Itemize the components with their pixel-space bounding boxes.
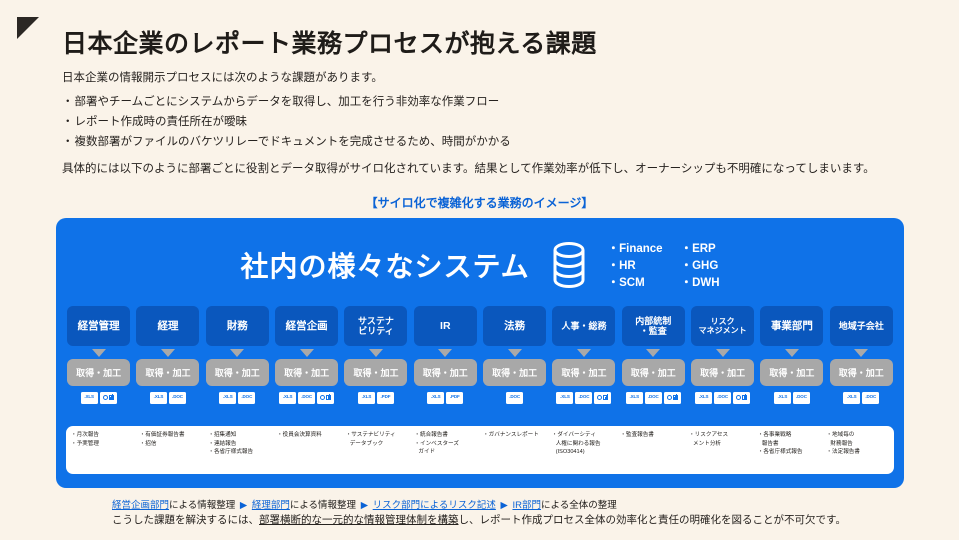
deliverable-list: 招集通知連結報告各省庁様式報告	[208, 431, 271, 457]
closing-underline: 部署横断的な一元的な情報管理体制を構築	[259, 514, 459, 526]
flow-step-text: による情報整理	[169, 500, 235, 511]
down-arrow-icon	[438, 349, 452, 357]
file-ext-label: .PDF	[381, 395, 391, 400]
file-icon-group: .XLS.DOC	[774, 391, 810, 404]
process-flow-line: 経営企画部門による情報整理 ▶ 経理部門による情報整理 ▶ リスク部門によるリス…	[112, 497, 617, 511]
department-column: 内部統制 ・監査取得・加工.XLS.DOC	[619, 306, 688, 404]
dept-label: 地域子会社	[839, 321, 884, 331]
file-ext-label: .DOC	[865, 395, 876, 400]
file-xls-icon: .XLS	[279, 392, 296, 404]
panel-header: 社内の様々なシステム Finance ERP HR GHG SCM DWH	[56, 232, 904, 298]
down-arrow-icon	[92, 349, 106, 357]
down-arrow-icon	[854, 349, 868, 357]
file-ext-label: .XLS	[431, 395, 441, 400]
bar-chart-icon	[742, 395, 747, 400]
file-ext-label: .DOC	[648, 395, 659, 400]
department-column: 事業部門取得・加工.XLS.DOC	[757, 306, 826, 404]
list-item: リスクアセス	[689, 431, 752, 440]
file-doc-icon: .DOC	[793, 392, 810, 404]
department-column: 経営管理取得・加工.XLS	[64, 306, 133, 404]
list-item: 報告書	[758, 440, 821, 449]
file-icon-group: .XLS.DOC	[219, 391, 255, 404]
pie-chart-icon	[103, 395, 108, 400]
dept-label: 財務	[227, 320, 248, 332]
dept-box-3[interactable]: 経営企画	[275, 306, 338, 346]
file-ext-label: .DOC	[301, 395, 312, 400]
process-box-8[interactable]: 取得・加工	[622, 359, 685, 386]
file-ext-label: .DOC	[717, 395, 728, 400]
closing-suffix: し、レポート作成プロセス全体の効率化と責任の明確化を図ることが不可欠です。	[459, 514, 846, 526]
panel-header-title: 社内の様々なシステム	[240, 245, 529, 285]
database-icon	[552, 242, 586, 288]
pie-chart-icon	[667, 395, 672, 400]
deliverable-list: 地域毎の財務報告法定報告書	[826, 431, 889, 457]
file-doc-icon: .DOC	[506, 392, 523, 404]
department-column: リスク マネジメント取得・加工.XLS.DOC	[688, 306, 757, 404]
process-label: 取得・加工	[492, 366, 537, 379]
process-label: 取得・加工	[353, 366, 398, 379]
pie-chart-icon	[320, 395, 325, 400]
file-xls-icon: .XLS	[626, 392, 643, 404]
list-item: 法定報告書	[826, 448, 889, 457]
list-item: サステナビリティ	[346, 431, 409, 440]
list-item: 各省庁様式報告	[758, 448, 821, 457]
system-tag: ERP	[681, 240, 720, 256]
file-ext-label: .XLS	[847, 395, 857, 400]
down-arrow-icon	[161, 349, 175, 357]
file-icon-group: .XLS	[81, 391, 117, 404]
deliverable-cell: リスクアセスメント分析	[686, 431, 755, 469]
slide-root: 日本企業のレポート業務プロセスが抱える課題 日本企業の情報開示プロセスには次のよ…	[0, 0, 959, 540]
page-title: 日本企業のレポート業務プロセスが抱える課題	[62, 24, 597, 60]
dept-label: 事業部門	[771, 320, 813, 332]
list-item: 複数部署がファイルのバケツリレーでドキュメントを完成させるため、時間がかかる	[62, 132, 511, 152]
deliverable-list: リスクアセスメント分析	[689, 431, 752, 448]
flow-step-text: による全体の整理	[541, 500, 617, 511]
department-column: サステナ ビリティ取得・加工.XLS.PDF	[341, 306, 410, 404]
list-item: 予実管理	[71, 440, 134, 449]
file-ext-label: .XLS	[629, 395, 639, 400]
process-box-1[interactable]: 取得・加工	[136, 359, 199, 386]
panel-caption: 【サイロ化で複雑化する業務のイメージ】	[0, 194, 959, 211]
list-item: ダイバーシティ	[552, 431, 615, 440]
file-ext-label: .DOC	[241, 395, 252, 400]
department-columns: 経営管理取得・加工.XLS経理取得・加工.XLS.DOC財務取得・加工.XLS.…	[64, 306, 896, 404]
file-doc-icon: .DOC	[169, 392, 186, 404]
pie-chart-icon	[736, 395, 741, 400]
dept-box-8[interactable]: 内部統制 ・監査	[622, 306, 685, 346]
file-xls-icon: .XLS	[81, 392, 98, 404]
process-box-10[interactable]: 取得・加工	[760, 359, 823, 386]
list-item: (ISO30414)	[552, 448, 615, 457]
file-icon-group: .XLS.DOC	[556, 391, 611, 404]
deliverable-cell: ガバナンスレポート	[480, 431, 549, 469]
process-box-5[interactable]: 取得・加工	[414, 359, 477, 386]
flow-step-link[interactable]: 経営企画部門	[112, 500, 169, 511]
file-icon-group: .DOC	[506, 391, 523, 404]
file-icon-group: .XLS.DOC	[626, 391, 681, 404]
deliverable-cell: 統合報告書インベスターズガイド	[411, 431, 480, 469]
down-arrow-icon	[230, 349, 244, 357]
department-column: 法務取得・加工.DOC	[480, 306, 549, 404]
list-item: 監査報告書	[620, 431, 683, 440]
flow-separator-icon: ▶	[358, 500, 371, 511]
department-column: 財務取得・加工.XLS.DOC	[203, 306, 272, 404]
dept-label: 経理	[157, 320, 178, 332]
file-ext-label: .DOC	[172, 395, 183, 400]
dept-box-0[interactable]: 経営管理	[67, 306, 130, 346]
flow-step-text: による情報整理	[290, 500, 356, 511]
file-xls-icon: .XLS	[219, 392, 236, 404]
file-icon-group: .XLS.PDF	[358, 391, 394, 404]
file-ext-label: .XLS	[560, 395, 570, 400]
list-item: 人権に関わる報告	[552, 440, 615, 449]
chart-icon	[733, 392, 750, 404]
list-item: 地域毎の	[826, 431, 889, 440]
file-xls-icon: .XLS	[556, 392, 573, 404]
dept-label: 法務	[504, 320, 525, 332]
process-box-7[interactable]: 取得・加工	[552, 359, 615, 386]
deliverable-list: 有価証券報告書招信	[140, 431, 203, 448]
down-arrow-icon	[785, 349, 799, 357]
dept-box-10[interactable]: 事業部門	[760, 306, 823, 346]
list-item: 有価証券報告書	[140, 431, 203, 440]
file-xls-icon: .XLS	[427, 392, 444, 404]
problem-bullet-list: 部署やチームごとにシステムからデータを取得し、加工を行う非効率な作業フロー レポ…	[62, 92, 511, 152]
file-ext-label: .DOC	[509, 395, 520, 400]
process-label: 取得・加工	[284, 366, 329, 379]
down-arrow-icon	[646, 349, 660, 357]
dept-box-7[interactable]: 人事・総務	[552, 306, 615, 346]
system-tag: DWH	[681, 274, 720, 290]
file-xls-icon: .XLS	[774, 392, 791, 404]
file-xls-icon: .XLS	[843, 392, 860, 404]
dept-label: 人事・総務	[561, 321, 606, 331]
down-arrow-icon	[716, 349, 730, 357]
dept-label: 内部統制 ・監査	[635, 316, 671, 337]
dept-label: リスク マネジメント	[699, 317, 747, 335]
deliverable-cell: サステナビリティデータブック	[343, 431, 412, 469]
process-box-3[interactable]: 取得・加工	[275, 359, 338, 386]
dept-label: サステナ ビリティ	[358, 316, 394, 337]
list-item: インベスターズ	[414, 440, 477, 449]
dept-box-9[interactable]: リスク マネジメント	[691, 306, 754, 346]
flow-step-link[interactable]: IR部門	[512, 500, 541, 511]
file-doc-icon: .DOC	[298, 392, 315, 404]
file-doc-icon: .DOC	[238, 392, 255, 404]
process-label: 取得・加工	[631, 366, 676, 379]
closing-prefix: こうした課題を解決するには、	[112, 514, 259, 526]
department-column: 人事・総務取得・加工.XLS.DOC	[549, 306, 618, 404]
process-label: 取得・加工	[839, 366, 884, 379]
flow-separator-icon: ▶	[498, 500, 511, 511]
bar-chart-icon	[326, 395, 331, 400]
system-tag: SCM	[608, 274, 663, 290]
list-item: レポート作成時の責任所在が曖昧	[62, 112, 511, 132]
system-tag-list: Finance ERP HR GHG SCM DWH	[608, 240, 720, 290]
system-tag: Finance	[608, 240, 663, 256]
process-box-0[interactable]: 取得・加工	[67, 359, 130, 386]
file-xls-icon: .XLS	[358, 392, 375, 404]
file-icon-group: .XLS.DOC	[279, 391, 334, 404]
file-icon-group: .XLS.DOC	[695, 391, 750, 404]
flow-step-link[interactable]: 経理部門	[252, 500, 290, 511]
process-box-6[interactable]: 取得・加工	[483, 359, 546, 386]
list-item: 各省庁様式報告	[208, 448, 271, 457]
bar-chart-icon	[603, 395, 608, 400]
chart-icon	[594, 392, 611, 404]
department-column: IR取得・加工.XLS.PDF	[411, 306, 480, 404]
flow-separator-icon: ▶	[237, 500, 250, 511]
dept-label: 経営管理	[78, 320, 120, 332]
chart-icon	[317, 392, 334, 404]
system-tag: GHG	[681, 257, 720, 273]
process-box-4[interactable]: 取得・加工	[344, 359, 407, 386]
deliverable-list: 統合報告書インベスターズガイド	[414, 431, 477, 457]
deliverable-list: サステナビリティデータブック	[346, 431, 409, 448]
systems-panel: 社内の様々なシステム Finance ERP HR GHG SCM DWH 経営…	[56, 218, 904, 488]
file-ext-label: .XLS	[778, 395, 788, 400]
deliverable-list: 月次報告予実管理	[71, 431, 134, 448]
system-tag: HR	[608, 257, 663, 273]
deliverable-cell: 各事業戦略報告書各省庁様式報告	[755, 431, 824, 469]
chart-icon	[100, 392, 117, 404]
logo-triangle-icon	[17, 17, 39, 39]
bar-chart-icon	[109, 395, 114, 400]
file-icon-group: .XLS.DOC	[150, 391, 186, 404]
bar-chart-icon	[673, 395, 678, 400]
file-pdf-icon: .PDF	[446, 392, 463, 404]
file-ext-label: .XLS	[699, 395, 709, 400]
flow-step-link[interactable]: リスク部門によるリスク記述	[373, 500, 496, 511]
deliverable-cell: 有価証券報告書招信	[137, 431, 206, 469]
list-item: 各事業戦略	[758, 431, 821, 440]
list-item: データブック	[346, 440, 409, 449]
list-item: 統合報告書	[414, 431, 477, 440]
dept-box-4[interactable]: サステナ ビリティ	[344, 306, 407, 346]
intro-text: 日本企業の情報開示プロセスには次のような課題があります。	[62, 70, 383, 88]
department-column: 地域子会社取得・加工.XLS.DOC	[827, 306, 896, 404]
down-arrow-icon	[369, 349, 383, 357]
file-ext-label: .XLS	[154, 395, 164, 400]
file-ext-label: .XLS	[223, 395, 233, 400]
process-box-11[interactable]: 取得・加工	[830, 359, 893, 386]
chart-icon	[664, 392, 681, 404]
file-ext-label: .XLS	[283, 395, 293, 400]
list-item: 招集通知	[208, 431, 271, 440]
deliverable-cell: 役員会決算資料	[274, 431, 343, 469]
summary-text: 具体的には以下のように部署ごとに役割とデータ取得がサイロ化されています。結果とし…	[62, 160, 875, 176]
file-doc-icon: .DOC	[714, 392, 731, 404]
file-pdf-icon: .PDF	[377, 392, 394, 404]
list-item: 財務報告	[826, 440, 889, 449]
file-ext-label: .XLS	[362, 395, 372, 400]
deliverable-list: 役員会決算資料	[277, 431, 340, 440]
dept-label: 経営企画	[286, 320, 328, 332]
dept-box-2[interactable]: 財務	[206, 306, 269, 346]
closing-text: こうした課題を解決するには、部署横断的な一元的な情報管理体制を構築し、レポート作…	[112, 512, 846, 527]
process-label: 取得・加工	[423, 366, 468, 379]
file-xls-icon: .XLS	[150, 392, 167, 404]
process-label: 取得・加工	[76, 366, 121, 379]
list-item: ガバナンスレポート	[483, 431, 546, 440]
list-item: ガイド	[414, 448, 477, 457]
process-label: 取得・加工	[561, 366, 606, 379]
file-ext-label: .PDF	[450, 395, 460, 400]
pie-chart-icon	[597, 395, 602, 400]
dept-box-5[interactable]: IR	[414, 306, 477, 346]
dept-box-1[interactable]: 経理	[136, 306, 199, 346]
deliverable-list: 各事業戦略報告書各省庁様式報告	[758, 431, 821, 457]
list-item: メント分析	[689, 440, 752, 449]
down-arrow-icon	[300, 349, 314, 357]
list-item: 月次報告	[71, 431, 134, 440]
file-doc-icon: .DOC	[575, 392, 592, 404]
list-item: 部署やチームごとにシステムからデータを取得し、加工を行う非効率な作業フロー	[62, 92, 511, 112]
file-ext-label: .XLS	[84, 395, 94, 400]
department-column: 経理取得・加工.XLS.DOC	[133, 306, 202, 404]
file-doc-icon: .DOC	[645, 392, 662, 404]
deliverable-cell: 地域毎の財務報告法定報告書	[823, 431, 892, 469]
deliverable-list: ガバナンスレポート	[483, 431, 546, 440]
dept-box-11[interactable]: 地域子会社	[830, 306, 893, 346]
list-item: 連結報告	[208, 440, 271, 449]
file-doc-icon: .DOC	[862, 392, 879, 404]
down-arrow-icon	[508, 349, 522, 357]
deliverables-strip: 月次報告予実管理有価証券報告書招信招集通知連結報告各省庁様式報告役員会決算資料サ…	[66, 426, 894, 474]
list-item: 役員会決算資料	[277, 431, 340, 440]
file-icon-group: .XLS.PDF	[427, 391, 463, 404]
list-item: 招信	[140, 440, 203, 449]
process-label: 取得・加工	[145, 366, 190, 379]
process-box-9[interactable]: 取得・加工	[691, 359, 754, 386]
department-column: 経営企画取得・加工.XLS.DOC	[272, 306, 341, 404]
file-icon-group: .XLS.DOC	[843, 391, 879, 404]
deliverable-cell: 月次報告予実管理	[68, 431, 137, 469]
deliverable-list: ダイバーシティ人権に関わる報告(ISO30414)	[552, 431, 615, 457]
deliverable-cell: ダイバーシティ人権に関わる報告(ISO30414)	[549, 431, 618, 469]
file-ext-label: .DOC	[796, 395, 807, 400]
process-label: 取得・加工	[215, 366, 260, 379]
process-label: 取得・加工	[769, 366, 814, 379]
deliverable-cell: 招集通知連結報告各省庁様式報告	[205, 431, 274, 469]
process-box-2[interactable]: 取得・加工	[206, 359, 269, 386]
file-xls-icon: .XLS	[695, 392, 712, 404]
deliverable-cell: 監査報告書	[617, 431, 686, 469]
deliverable-list: 監査報告書	[620, 431, 683, 440]
dept-box-6[interactable]: 法務	[483, 306, 546, 346]
file-ext-label: .DOC	[579, 395, 590, 400]
down-arrow-icon	[577, 349, 591, 357]
process-label: 取得・加工	[700, 366, 745, 379]
dept-label: IR	[440, 320, 451, 332]
